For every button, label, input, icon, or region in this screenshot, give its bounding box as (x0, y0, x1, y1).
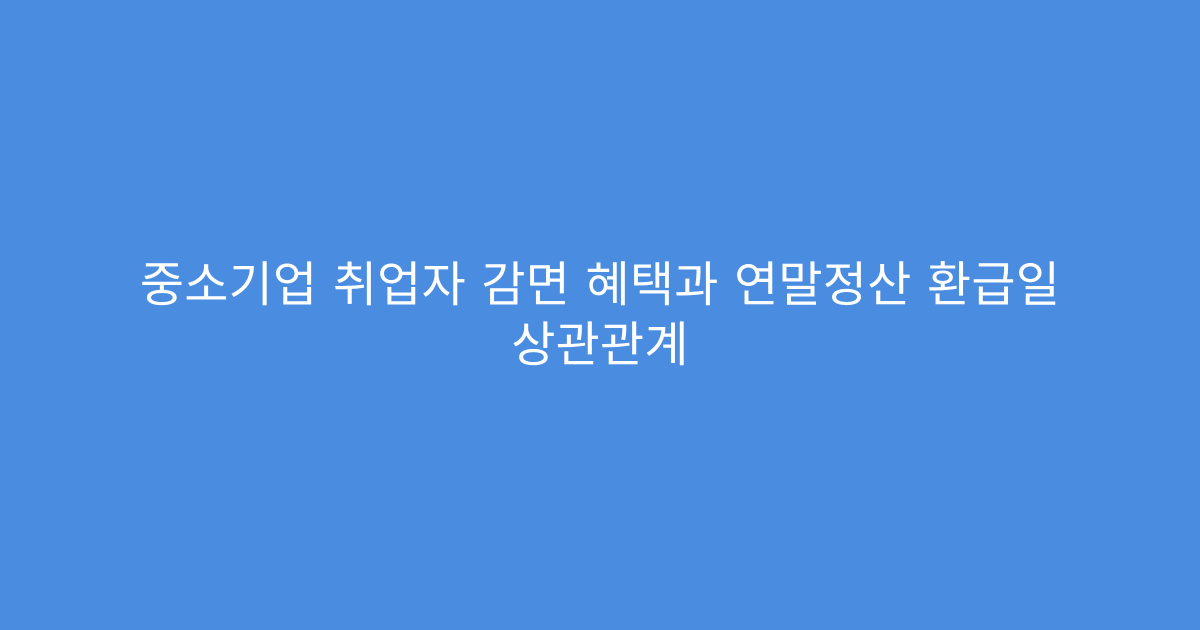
page-title: 중소기업 취업자 감면 혜택과 연말정산 환급일 상관관계 (95, 255, 1105, 375)
title-block: 중소기업 취업자 감면 혜택과 연말정산 환급일 상관관계 (95, 255, 1105, 375)
banner-card: 중소기업 취업자 감면 혜택과 연말정산 환급일 상관관계 (0, 0, 1200, 630)
